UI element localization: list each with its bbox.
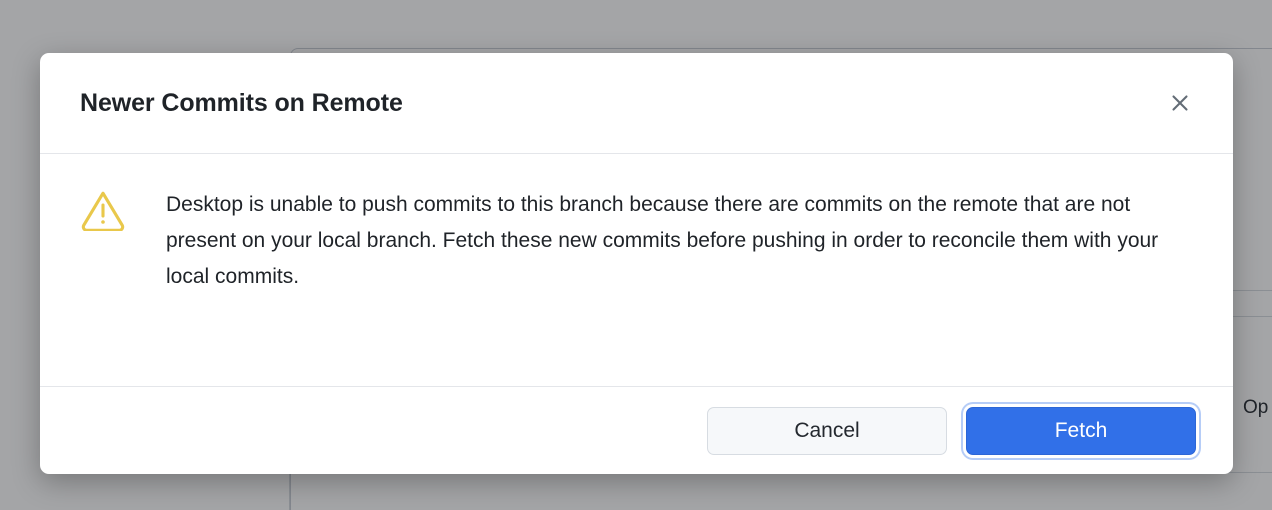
cancel-button[interactable]: Cancel [707, 407, 947, 455]
warning-triangle-icon [80, 189, 126, 231]
dialog-footer: Cancel Fetch [40, 387, 1233, 474]
close-icon[interactable] [1163, 86, 1197, 120]
newer-commits-dialog: Newer Commits on Remote Desktop is unabl… [40, 53, 1233, 474]
dialog-header: Newer Commits on Remote [40, 53, 1233, 154]
fetch-button-focus-ring: Fetch [963, 404, 1199, 458]
dialog-body: Desktop is unable to push commits to thi… [40, 154, 1233, 387]
dialog-message: Desktop is unable to push commits to thi… [166, 187, 1193, 295]
fetch-button[interactable]: Fetch [966, 407, 1196, 455]
dialog-title: Newer Commits on Remote [80, 89, 1163, 118]
